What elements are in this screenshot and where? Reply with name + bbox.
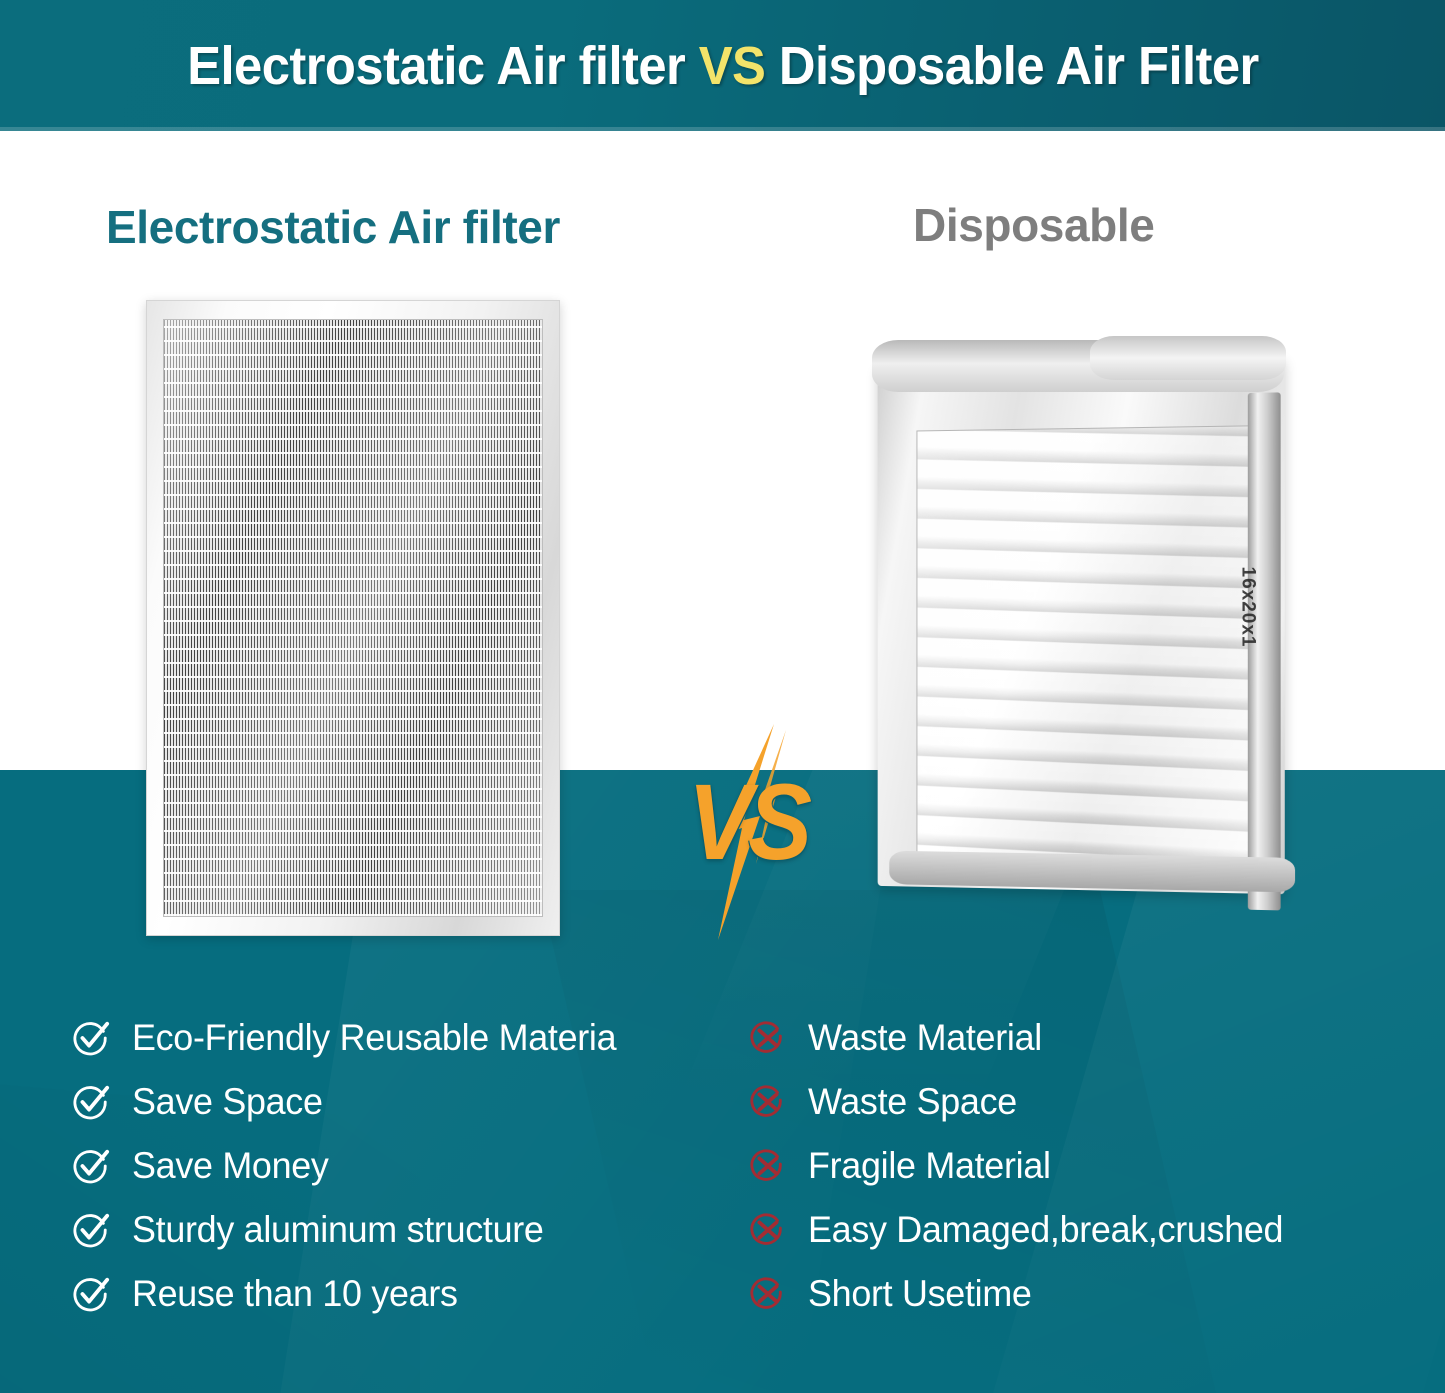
electrostatic-filter-image (146, 300, 560, 936)
x-circle-icon (748, 1211, 786, 1249)
page-title-part1: Electrostatic Air filter (187, 36, 699, 96)
disposable-filter-bottom-lip (889, 851, 1295, 893)
disposable-filter-size-label: 16x20x1 (1237, 567, 1259, 648)
list-item: Easy Damaged,break,crushed (748, 1198, 1428, 1262)
left-column-subtitle: Electrostatic Air filter (106, 200, 560, 254)
cons-list: Waste Material Waste Space Fragile Mater… (748, 1006, 1428, 1326)
page-title: Electrostatic Air filter VS Disposable A… (187, 35, 1259, 97)
page-title-vs: VS (698, 36, 765, 96)
list-item: Waste Material (748, 1006, 1428, 1070)
check-circle-icon (72, 1019, 110, 1057)
list-item-label: Eco-Friendly Reusable Materia (132, 1017, 616, 1059)
check-circle-icon (72, 1083, 110, 1121)
list-item-label: Easy Damaged,break,crushed (808, 1209, 1283, 1251)
list-item-label: Waste Space (808, 1081, 1017, 1123)
right-column-subtitle: Disposable (913, 198, 1154, 252)
list-item: Sturdy aluminum structure (72, 1198, 762, 1262)
list-item-label: Fragile Material (808, 1145, 1051, 1187)
versus-badge: VS (648, 724, 848, 940)
check-circle-icon (72, 1275, 110, 1313)
disposable-filter-top-lip-second (1090, 336, 1286, 380)
x-circle-icon (748, 1275, 786, 1313)
page-title-part2: Disposable Air Filter (765, 36, 1258, 96)
x-circle-icon (748, 1147, 786, 1185)
disposable-filter-frame (878, 358, 1285, 894)
list-item: Short Usetime (748, 1262, 1428, 1326)
list-item-label: Sturdy aluminum structure (132, 1209, 544, 1251)
disposable-filter-image: 16x20x1 (864, 334, 1294, 896)
list-item: Eco-Friendly Reusable Materia (72, 1006, 762, 1070)
disposable-filter-media (916, 425, 1264, 892)
disposable-filter-side-rail (1248, 392, 1281, 910)
check-circle-icon (72, 1147, 110, 1185)
list-item: Fragile Material (748, 1134, 1428, 1198)
electrostatic-filter-mesh (163, 319, 543, 917)
list-item-label: Save Space (132, 1081, 323, 1123)
list-item: Save Money (72, 1134, 762, 1198)
versus-label: VS (648, 761, 848, 884)
list-item-label: Waste Material (808, 1017, 1042, 1059)
x-circle-icon (748, 1019, 786, 1057)
list-item: Waste Space (748, 1070, 1428, 1134)
list-item: Reuse than 10 years (72, 1262, 762, 1326)
x-circle-icon (748, 1083, 786, 1121)
list-item-label: Save Money (132, 1145, 329, 1187)
header-banner: Electrostatic Air filter VS Disposable A… (0, 0, 1445, 131)
list-item-label: Reuse than 10 years (132, 1273, 458, 1315)
pros-list: Eco-Friendly Reusable Materia Save Space… (72, 1006, 762, 1326)
list-item-label: Short Usetime (808, 1273, 1032, 1315)
check-circle-icon (72, 1211, 110, 1249)
list-item: Save Space (72, 1070, 762, 1134)
